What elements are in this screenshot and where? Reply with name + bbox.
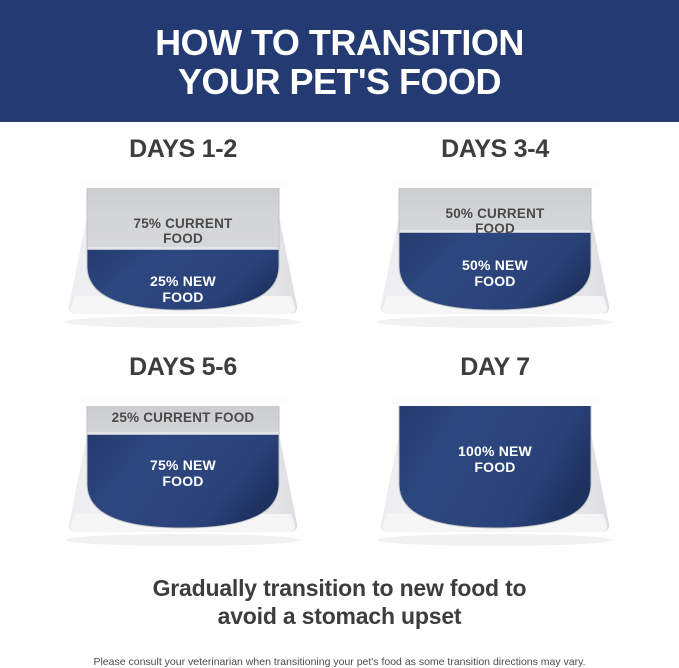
bowl-illustration bbox=[49, 170, 317, 330]
food-bowl-days-5-6: 25% CURRENT FOOD 75% NEW FOOD bbox=[49, 388, 317, 548]
footer-disclaimer: Please consult your veterinarian when tr… bbox=[0, 656, 679, 668]
step-title: DAY 7 bbox=[340, 350, 650, 384]
food-bowl-days-3-4: 50% CURRENT FOOD 50% NEW FOOD bbox=[361, 170, 629, 330]
footer-headline: Gradually transition to new food to avoi… bbox=[0, 560, 679, 630]
step-card-days-1-2: DAYS 1-2 bbox=[28, 132, 338, 344]
bowl-illustration bbox=[361, 170, 629, 330]
step-title: DAYS 1-2 bbox=[28, 132, 338, 166]
food-bowl-days-1-2: 75% CURRENT FOOD 25% NEW FOOD bbox=[49, 170, 317, 330]
step-card-days-3-4: DAYS 3-4 bbox=[340, 132, 650, 344]
step-card-days-5-6: DAYS 5-6 bbox=[28, 350, 338, 562]
footer: Gradually transition to new food to avoi… bbox=[0, 560, 679, 668]
bowl-illustration bbox=[361, 388, 629, 548]
step-title: DAYS 3-4 bbox=[340, 132, 650, 166]
bowl-illustration bbox=[49, 388, 317, 548]
header-banner: HOW TO TRANSITION YOUR PET'S FOOD bbox=[0, 0, 679, 122]
step-title: DAYS 5-6 bbox=[28, 350, 338, 384]
food-bowl-day-7: 100% NEW FOOD bbox=[361, 388, 629, 548]
step-card-day-7: DAY 7 bbox=[340, 350, 650, 562]
transition-steps-grid: DAYS 1-2 bbox=[0, 122, 679, 552]
page-title: HOW TO TRANSITION YOUR PET'S FOOD bbox=[155, 24, 524, 102]
